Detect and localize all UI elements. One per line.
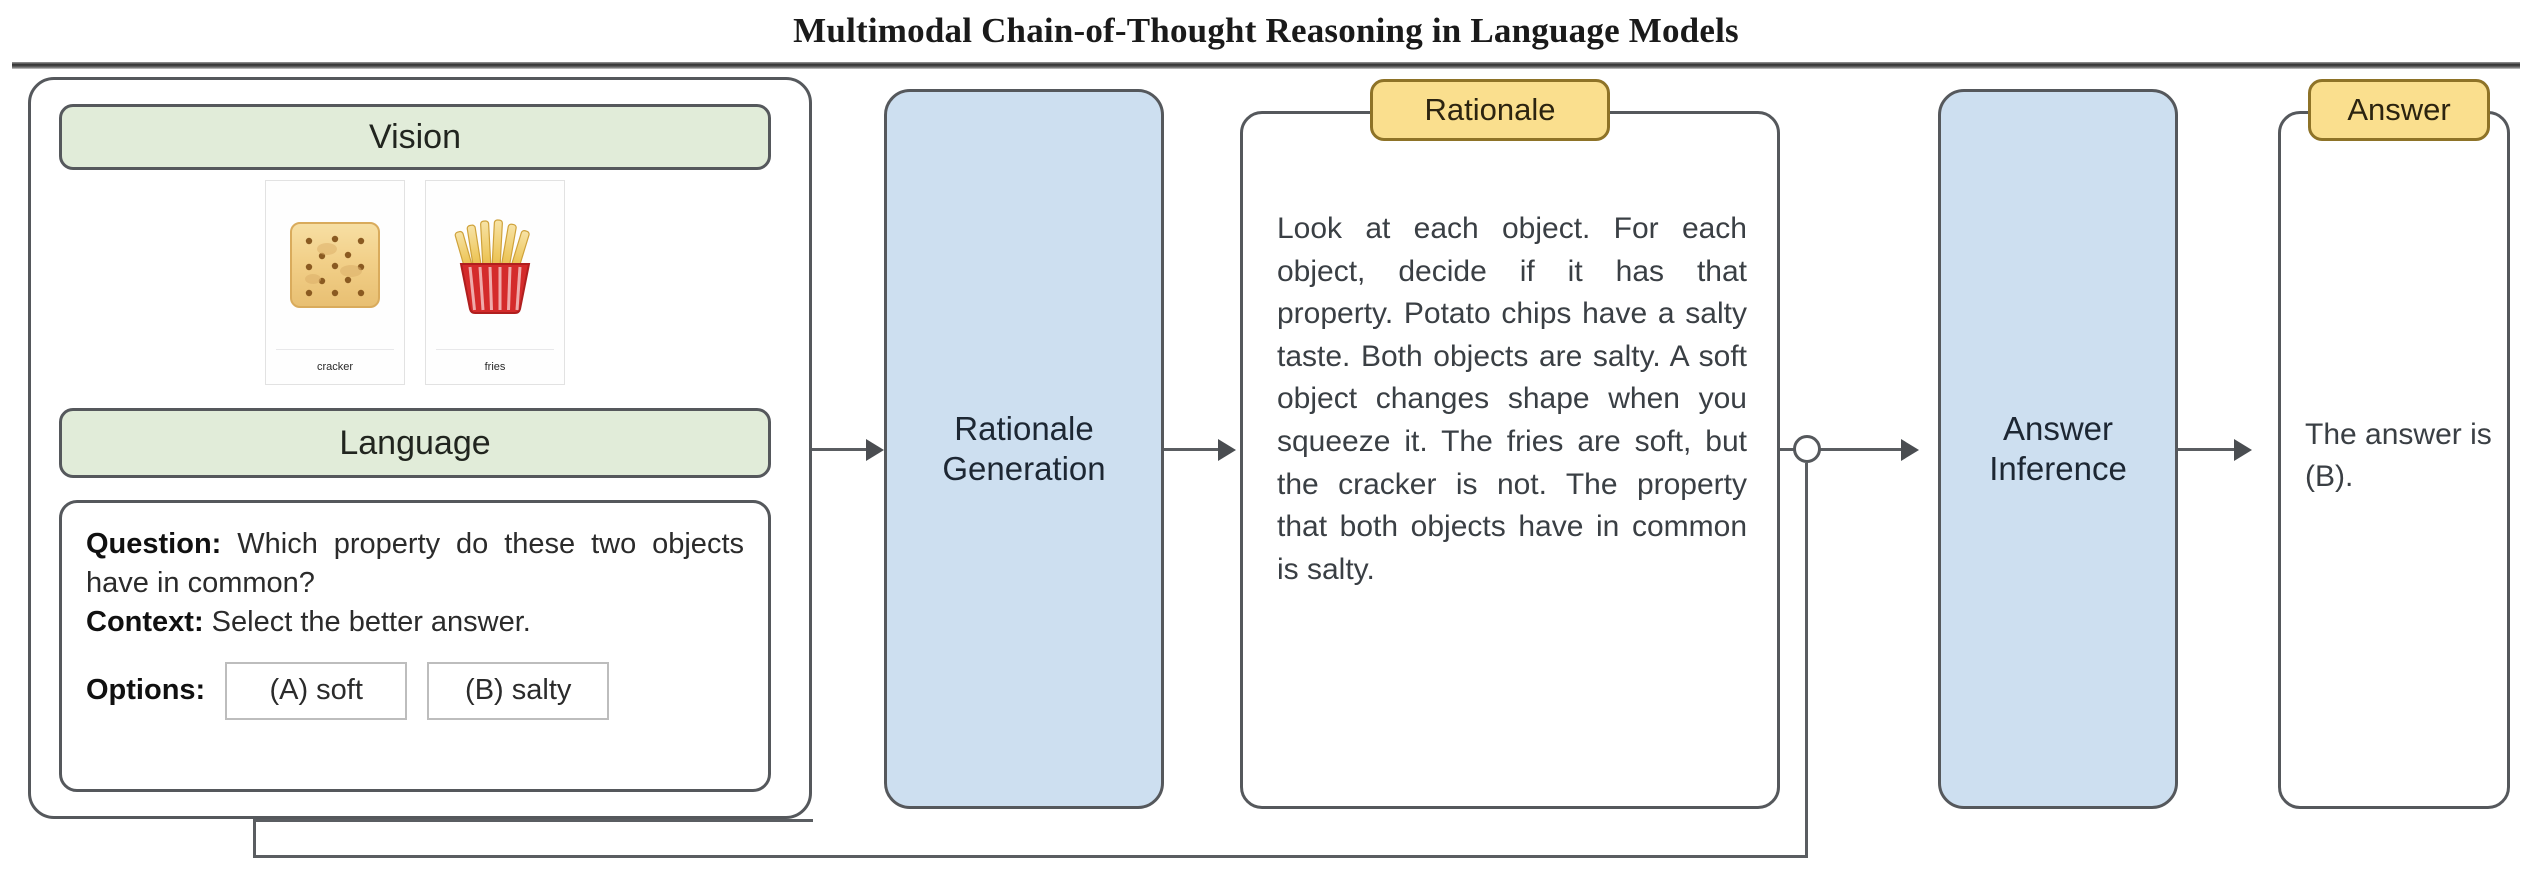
connector-inference-to-answer: [2178, 448, 2234, 451]
vision-thumbnail-strip: cracker: [59, 180, 771, 398]
options-key: Options:: [86, 674, 205, 707]
rationale-text: Look at each object. For each object, de…: [1277, 208, 1747, 591]
list-item[interactable]: cracker: [265, 180, 405, 385]
page-title: Multimodal Chain-of-Thought Reasoning in…: [793, 11, 1739, 51]
input-panel: Vision: [28, 77, 812, 819]
feedback-loop-up: [253, 819, 256, 858]
answer-text: The answer is (B).: [2305, 414, 2495, 498]
arrowhead-rationale: [1218, 439, 1236, 461]
context-line: Context: Select the better answer.: [86, 603, 744, 642]
question-card: Question: Which property do these two ob…: [59, 500, 771, 792]
stage-label: Rationale Generation: [887, 409, 1161, 490]
context-key: Context:: [86, 606, 204, 638]
status-badge-rationale: Rationale: [1370, 79, 1610, 141]
cracker-icon: [265, 181, 405, 349]
vision-section-header: Vision: [59, 104, 771, 170]
fries-icon: [425, 181, 565, 349]
question-line: Question: Which property do these two ob…: [86, 525, 744, 603]
pipeline-diagram: Vision: [0, 69, 2532, 880]
merge-junction-node: [1793, 435, 1821, 463]
stage-rationale-generation: Rationale Generation: [884, 89, 1164, 809]
stage-label: Answer Inference: [1941, 409, 2175, 490]
answer-tag-label: Answer: [2347, 92, 2450, 128]
feedback-loop-into-panel: [253, 819, 813, 822]
title-area: Multimodal Chain-of-Thought Reasoning in…: [0, 0, 2532, 62]
rationale-tag-label: Rationale: [1425, 92, 1556, 128]
stage-answer-inference: Answer Inference: [1938, 89, 2178, 809]
arrowhead-generation: [866, 439, 884, 461]
thumbnail-caption: cracker: [317, 350, 353, 384]
language-label: Language: [339, 424, 490, 463]
option-a-chip[interactable]: (A) soft: [225, 662, 407, 720]
feedback-loop-down: [1805, 463, 1808, 855]
arrowhead-inference: [1901, 439, 1919, 461]
options-row: Options: (A) soft (B) salty: [86, 662, 744, 720]
option-b-chip[interactable]: (B) salty: [427, 662, 609, 720]
connector-junction-to-inference: [1819, 448, 1901, 451]
arrowhead-answer: [2234, 439, 2252, 461]
language-section-header: Language: [59, 408, 771, 478]
question-key: Question:: [86, 528, 221, 560]
title-divider: [12, 62, 2520, 69]
connector-generation-to-rationale: [1164, 448, 1218, 451]
connector-input-to-generation: [812, 448, 866, 451]
list-item[interactable]: fries: [425, 180, 565, 385]
answer-output-box: The answer is (B).: [2278, 111, 2510, 809]
feedback-loop-left: [253, 855, 1808, 858]
status-badge-answer: Answer: [2308, 79, 2490, 141]
vision-label: Vision: [369, 118, 461, 157]
rationale-output-box: Look at each object. For each object, de…: [1240, 111, 1780, 809]
context-text: Select the better answer.: [204, 606, 531, 638]
thumbnail-caption: fries: [485, 350, 506, 384]
